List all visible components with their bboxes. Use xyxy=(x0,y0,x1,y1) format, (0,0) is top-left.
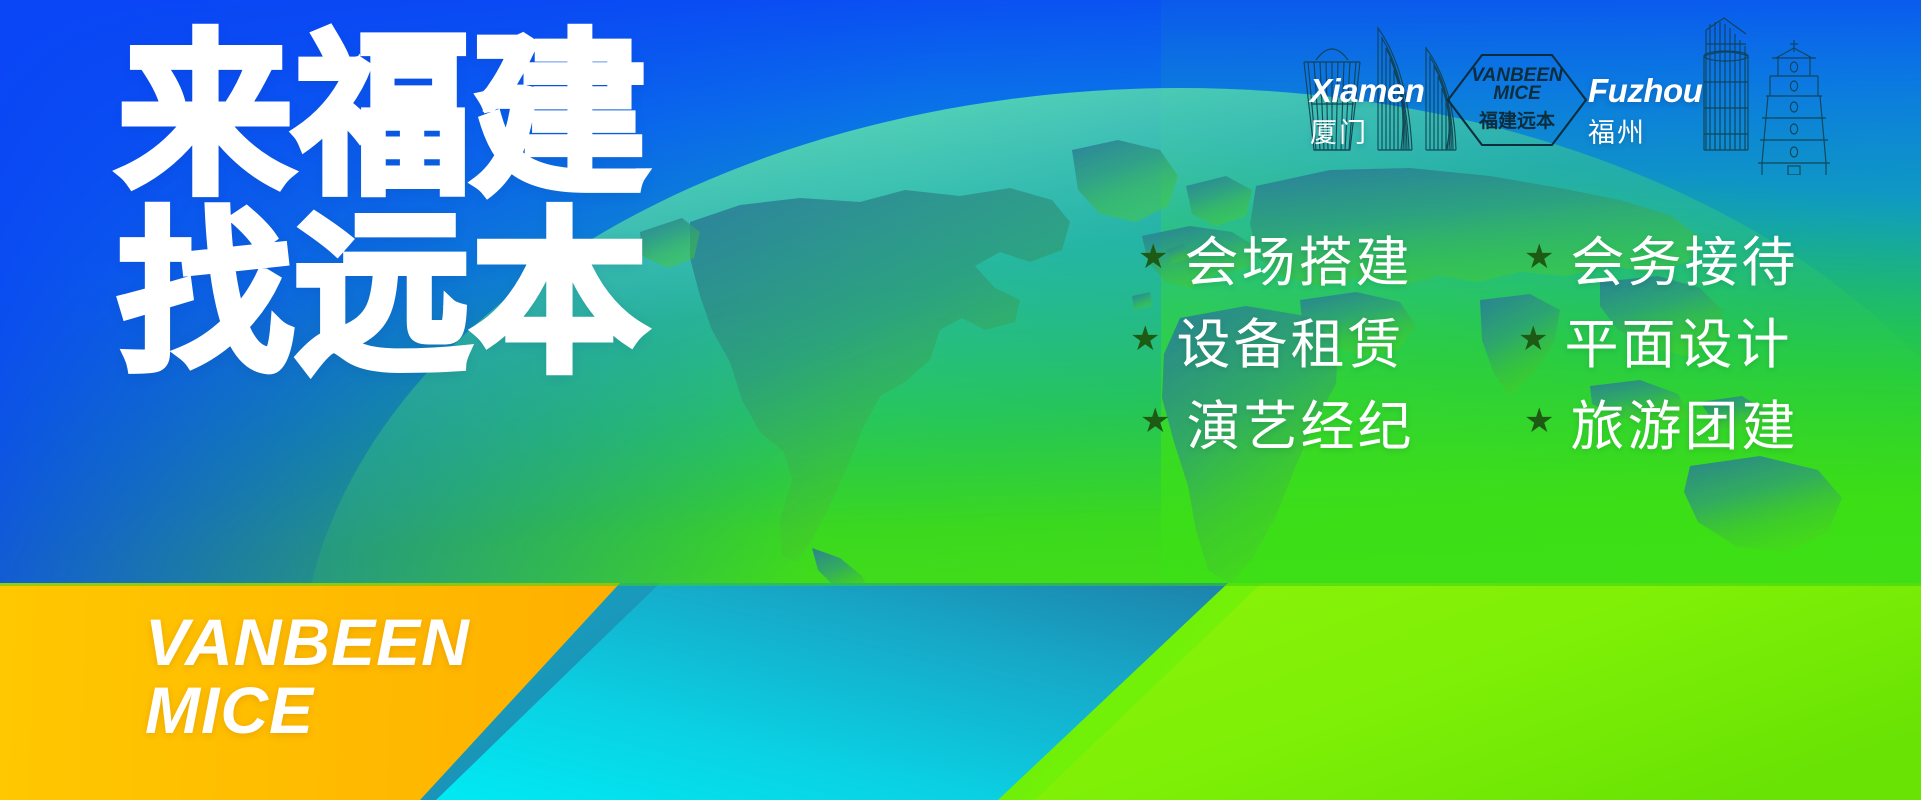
service-item: ★ 平面设计 xyxy=(1512,300,1900,379)
service-label: 旅游团建 xyxy=(1570,382,1798,461)
city-label-fuzhou: Fuzhou 福州 xyxy=(1588,72,1702,150)
star-icon: ★ xyxy=(1524,240,1554,274)
brand-line-1: VANBEEN xyxy=(145,610,470,674)
brand-line-2: MICE xyxy=(145,678,470,742)
star-icon: ★ xyxy=(1518,322,1548,356)
city-label-xiamen: Xiamen 厦门 xyxy=(1310,72,1424,150)
headline-line-1: 来福建 xyxy=(118,34,758,202)
star-icon: ★ xyxy=(1138,240,1168,274)
band-top-divider xyxy=(0,583,1921,586)
city-name-en: Fuzhou xyxy=(1588,72,1702,110)
vanbeen-hex-logo[interactable]: VANBEEN MICE 福建远本 xyxy=(1446,53,1588,147)
star-icon: ★ xyxy=(1130,322,1160,356)
fuzhou-modern-tower xyxy=(1704,18,1748,150)
headline-line-2: 找远本 xyxy=(118,212,758,380)
service-item: ★ 会务接待 xyxy=(1514,218,1900,297)
city-name-cn: 厦门 xyxy=(1310,111,1424,150)
service-label: 设备租赁 xyxy=(1176,300,1404,379)
service-label: 会场搭建 xyxy=(1184,218,1412,297)
fuzhou-pagoda xyxy=(1758,40,1830,175)
hex-logo-en-line2: MICE xyxy=(1493,85,1541,103)
bottom-color-band: VANBEEN MICE xyxy=(0,583,1921,800)
service-item: ★ 旅游团建 xyxy=(1516,382,1900,461)
service-row: ★ 演艺经纪 ★ 旅游团建 xyxy=(1130,380,1900,462)
headline: 来福建 找远本 xyxy=(118,34,758,380)
city-name-cn: 福州 xyxy=(1588,111,1702,150)
service-item: ★ 会场搭建 xyxy=(1130,218,1514,297)
star-icon: ★ xyxy=(1140,404,1170,438)
service-row: ★ 会场搭建 ★ 会务接待 xyxy=(1130,216,1900,298)
service-item: ★ 设备租赁 xyxy=(1130,300,1512,379)
service-list: ★ 会场搭建 ★ 会务接待 ★ 设备租赁 ★ 平面设计 ★ 演艺经纪 xyxy=(1130,216,1900,462)
brand-wordmark: VANBEEN MICE xyxy=(145,610,470,742)
star-icon: ★ xyxy=(1524,404,1554,438)
city-landmark-block: VANBEEN MICE 福建远本 Xiamen 厦门 Fuzhou 福州 xyxy=(1300,0,1860,175)
hex-logo-cn: 福建远本 xyxy=(1479,106,1555,133)
service-item: ★ 演艺经纪 xyxy=(1130,382,1516,461)
service-label: 会务接待 xyxy=(1570,218,1798,297)
service-label: 演艺经纪 xyxy=(1186,382,1414,461)
service-label: 平面设计 xyxy=(1564,300,1792,379)
city-name-en: Xiamen xyxy=(1310,72,1424,110)
service-row: ★ 设备租赁 ★ 平面设计 xyxy=(1130,298,1900,380)
hex-logo-text: VANBEEN MICE 福建远本 xyxy=(1446,53,1588,147)
promo-banner: 来福建 找远本 ★ 会场搭建 ★ 会务接待 ★ 设备租赁 ★ 平面设计 xyxy=(0,0,1921,800)
